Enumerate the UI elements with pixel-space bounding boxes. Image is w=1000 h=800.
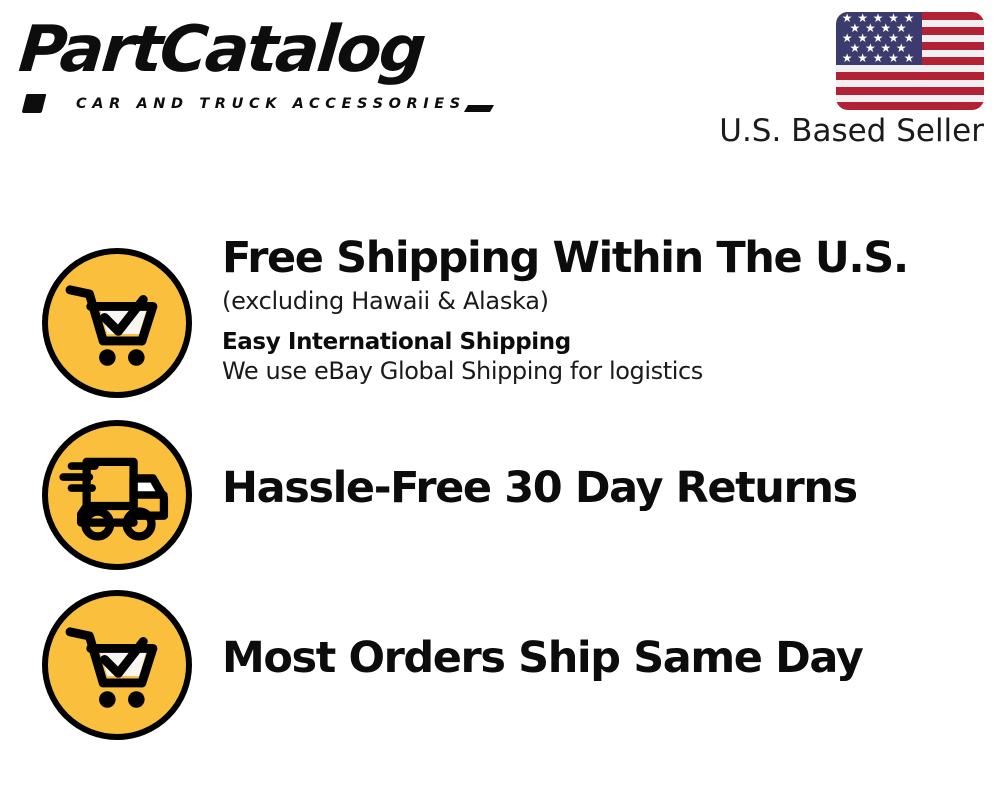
- logo-slash-mark-left-icon: [22, 94, 47, 113]
- header-bar: PartCatalog CAR AND TRUCK ACCESSORIES ★ …: [0, 0, 1000, 170]
- feature-subtext-strong: Easy International Shipping: [222, 329, 982, 355]
- brand-tagline: CAR AND TRUCK ACCESSORIES: [76, 96, 466, 112]
- us-flag-icon: ★ ★ ★ ★ ★ ★ ★ ★ ★ ★ ★ ★ ★ ★ ★ ★ ★ ★ ★ ★: [836, 12, 984, 110]
- flag-stripe: [836, 95, 984, 103]
- logo-slash-mark-right-icon: [464, 105, 494, 112]
- feature-heading: Most Orders Ship Same Day: [222, 636, 982, 681]
- delivery-truck-icon: [42, 420, 192, 570]
- shopping-cart-check-icon: [42, 248, 192, 398]
- flag-stripe: [836, 65, 984, 73]
- feature-text-block: Free Shipping Within The U.S. (excluding…: [222, 236, 982, 385]
- feature-text-block: Hassle-Free 30 Day Returns: [222, 466, 982, 511]
- feature-heading: Hassle-Free 30 Day Returns: [222, 466, 982, 511]
- us-based-seller-badge: ★ ★ ★ ★ ★ ★ ★ ★ ★ ★ ★ ★ ★ ★ ★ ★ ★ ★ ★ ★: [714, 12, 984, 148]
- shopping-cart-check-icon: [42, 590, 192, 740]
- flag-stripe: [836, 80, 984, 88]
- feature-subtext-secondary: We use eBay Global Shipping for logistic…: [222, 357, 982, 385]
- brand-tagline-row: CAR AND TRUCK ACCESSORIES: [24, 94, 490, 116]
- feature-row: Free Shipping Within The U.S. (excluding…: [0, 248, 1000, 403]
- us-based-seller-label: U.S. Based Seller: [714, 114, 984, 148]
- feature-heading: Free Shipping Within The U.S.: [222, 236, 982, 281]
- brand-wordmark: PartCatalog: [16, 18, 426, 82]
- brand-logo[interactable]: PartCatalog CAR AND TRUCK ACCESSORIES: [22, 18, 492, 118]
- flag-stripe: [836, 102, 984, 110]
- feature-row: Most Orders Ship Same Day: [0, 590, 1000, 742]
- flag-canton: ★ ★ ★ ★ ★ ★ ★ ★ ★ ★ ★ ★ ★ ★ ★ ★ ★ ★ ★ ★: [836, 12, 922, 65]
- feature-row: Hassle-Free 30 Day Returns: [0, 420, 1000, 572]
- flag-stripe: [836, 87, 984, 95]
- feature-subtext: (excluding Hawaii & Alaska): [222, 287, 982, 315]
- feature-text-block: Most Orders Ship Same Day: [222, 636, 982, 681]
- flag-stripe: [836, 72, 984, 80]
